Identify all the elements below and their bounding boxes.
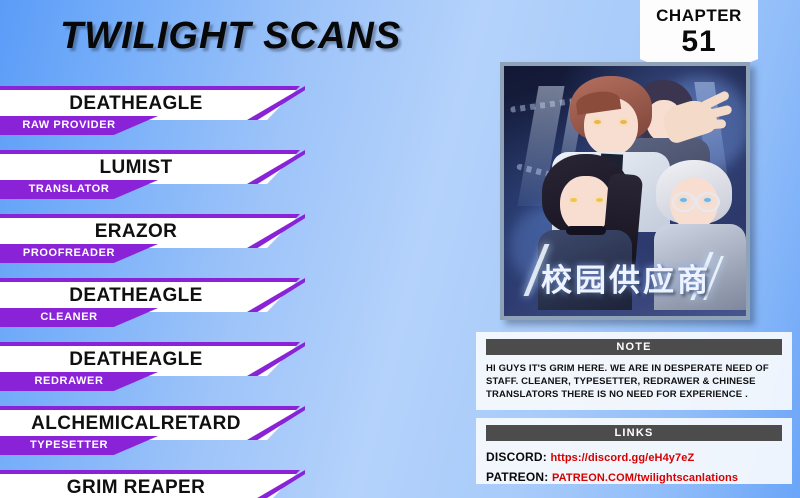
credit-name: DEATHEAGLE xyxy=(0,347,272,373)
credit-entry: DEATHEAGLERAW PROVIDER xyxy=(0,86,330,142)
credit-name: DEATHEAGLE xyxy=(0,91,272,117)
credit-name: ALCHEMICALRETARD xyxy=(0,411,272,437)
discord-link-row[interactable]: DISCORD: https://discord.gg/eH4y7eZ xyxy=(486,448,782,468)
patreon-label: PATREON: xyxy=(486,470,549,484)
chapter-number: 51 xyxy=(640,26,758,58)
credit-role: PROOFREADER xyxy=(0,245,138,262)
credit-entry: DEATHEAGLEREDRAWER xyxy=(0,342,330,398)
links-panel: LINKS DISCORD: https://discord.gg/eH4y7e… xyxy=(476,418,792,484)
links-header: LINKS xyxy=(486,425,782,441)
note-panel: NOTE HI GUYS IT'S GRIM HERE. WE ARE IN D… xyxy=(476,332,792,410)
glasses-icon xyxy=(672,192,696,212)
cover-art-illustration: 校园供应商 xyxy=(504,66,746,316)
chapter-label: CHAPTER xyxy=(640,6,758,26)
patreon-link-row[interactable]: PATREON: PATREON.COM/twilightscanlations xyxy=(486,468,782,488)
credit-name: GRIM REAPER xyxy=(0,475,272,498)
credit-entry: ERAZORPROOFREADER xyxy=(0,214,330,270)
credit-entry: ALCHEMICALRETARDTYPESETTER xyxy=(0,406,330,462)
credit-role: RAW PROVIDER xyxy=(0,117,138,134)
credit-name: LUMIST xyxy=(0,155,272,181)
site-title: TWILIGHT SCANS xyxy=(60,14,401,58)
credit-name: DEATHEAGLE xyxy=(0,283,272,309)
note-header: NOTE xyxy=(486,339,782,355)
credit-role: TRANSLATOR xyxy=(0,181,138,198)
discord-url[interactable]: https://discord.gg/eH4y7eZ xyxy=(550,452,694,464)
credit-role: TYPESETTER xyxy=(0,437,138,454)
credits-page: TWILIGHT SCANS CHAPTER 51 DEATHEAGLERAW … xyxy=(0,0,800,498)
credit-name: ERAZOR xyxy=(0,219,272,245)
cover-title-chinese: 校园供应商 xyxy=(526,264,726,298)
credits-list: DEATHEAGLERAW PROVIDERLUMISTTRANSLATORER… xyxy=(0,86,330,498)
credit-role: CLEANER xyxy=(0,309,138,326)
cover-art-frame: 校园供应商 xyxy=(500,62,750,320)
credit-entry: DEATHEAGLECLEANER xyxy=(0,278,330,334)
glasses-icon xyxy=(696,192,720,212)
note-body-text: HI GUYS IT'S GRIM HERE. WE ARE IN DESPER… xyxy=(486,362,782,401)
credit-role: REDRAWER xyxy=(0,373,138,390)
credit-entry: GRIM REAPERQUALITY xyxy=(0,470,330,498)
credit-entry: LUMISTTRANSLATOR xyxy=(0,150,330,206)
patreon-url[interactable]: PATREON.COM/twilightscanlations xyxy=(552,472,738,484)
discord-label: DISCORD: xyxy=(486,450,547,464)
